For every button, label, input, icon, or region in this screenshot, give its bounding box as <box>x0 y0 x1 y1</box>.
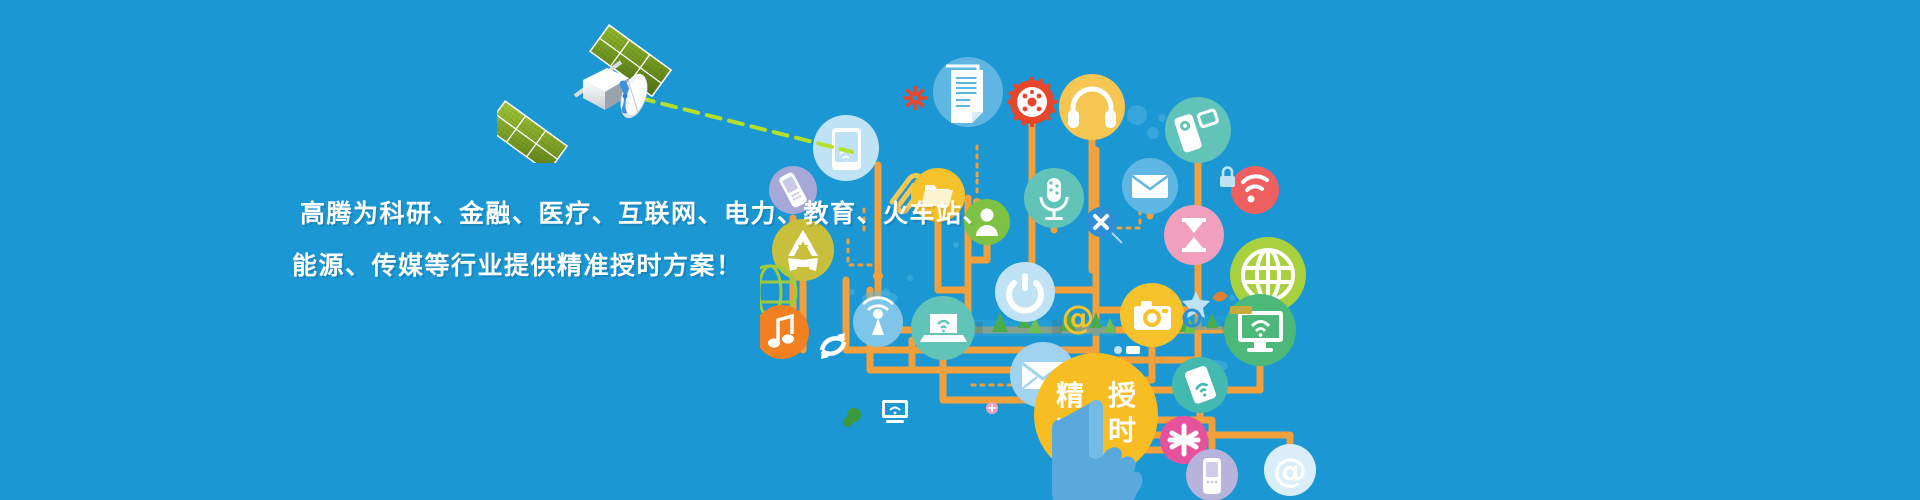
camera-icon <box>1120 283 1184 347</box>
hub-label-top-left: 精 <box>1056 379 1084 412</box>
headline-block: 高腾为科研、金融、医疗、互联网、电力、教育、火车站、 能源、传媒等行业提供精准授… <box>300 188 940 292</box>
hub-label-bottom-right: 时 <box>1108 414 1136 447</box>
wifi-red-icon <box>1231 166 1279 214</box>
headline-line-2: 能源、传媒等行业提供精准授时方案！ <box>292 240 940 292</box>
envelope-icon <box>1122 158 1178 214</box>
power-icon <box>995 262 1055 322</box>
lock-icon <box>1220 168 1235 188</box>
microphone-icon <box>1024 168 1084 228</box>
gear-red-icon <box>903 86 927 110</box>
at-sign-icon: @ <box>1062 298 1095 337</box>
gear-ball-icon <box>997 67 1068 138</box>
refresh-icon <box>821 333 845 359</box>
promo-banner: @ <box>0 0 1920 500</box>
solar-panel-lower <box>497 100 568 163</box>
document-icon <box>933 57 1003 127</box>
laptop-wifi-icon <box>911 296 975 360</box>
at-circle-icon: @ <box>1264 444 1316 496</box>
tablet-signal-icon <box>1172 357 1228 413</box>
svg-text:@: @ <box>1062 298 1095 337</box>
satellite-illustration <box>497 18 697 163</box>
tv-icon <box>882 400 908 423</box>
hourglass-icon <box>1164 205 1224 265</box>
camcorder-icon <box>1165 97 1231 163</box>
monitor-wifi-icon <box>1224 294 1296 366</box>
headphones-icon <box>1059 74 1125 140</box>
antenna-icon <box>853 297 903 347</box>
svg-text:@: @ <box>1273 451 1307 491</box>
mobile-lilac-icon <box>1186 449 1238 500</box>
headline-line-1: 高腾为科研、金融、医疗、互联网、电力、教育、火车站、 <box>300 188 940 240</box>
hub-label-top-right: 授 <box>1108 379 1136 412</box>
